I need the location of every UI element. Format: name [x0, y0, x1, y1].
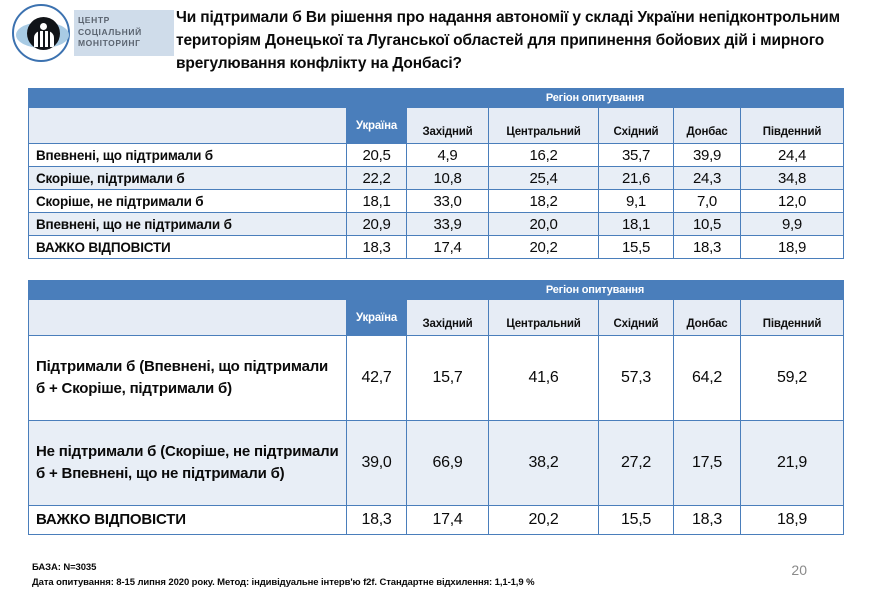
row-label: ВАЖКО ВІДПОВІСТИ: [29, 236, 347, 259]
header-label-cell: [29, 300, 347, 336]
logo-wordmark: ЦЕНТР СОЦІАЛЬНИЙ МОНІТОРИНГ: [74, 10, 174, 56]
row-label: Скоріше, підтримали б: [29, 167, 347, 190]
cell-value: 9,9: [741, 213, 844, 236]
cell-value: 18,1: [347, 190, 407, 213]
cell-value: 16,2: [489, 144, 599, 167]
cell-value: 20,0: [489, 213, 599, 236]
row-label: Скоріше, не підтримали б: [29, 190, 347, 213]
table-column-header-row: Україна Західний Центральний Східний Дон…: [29, 300, 844, 336]
cell-value: 34,8: [741, 167, 844, 190]
page-title: Чи підтримали б Ви рішення про надання а…: [176, 6, 866, 75]
logo-ring-icon: [12, 4, 70, 62]
cell-value: 17,4: [407, 506, 489, 535]
cell-value: 21,9: [741, 421, 844, 506]
cell-value: 66,9: [407, 421, 489, 506]
organization-logo: ЦЕНТР СОЦІАЛЬНИЙ МОНІТОРИНГ: [12, 4, 172, 62]
cell-value: 18,9: [741, 236, 844, 259]
group-header-region: Регіон опитування: [347, 89, 844, 108]
cell-value: 22,2: [347, 167, 407, 190]
header-corner-cell: [29, 89, 347, 108]
logo-line-1: ЦЕНТР: [78, 15, 174, 27]
cell-value: 7,0: [674, 190, 741, 213]
row-label: Впевнені, що підтримали б: [29, 144, 347, 167]
cell-value: 24,3: [674, 167, 741, 190]
column-header-central: Центральний: [489, 108, 599, 144]
cell-value: 21,6: [599, 167, 674, 190]
table-row: Скоріше, підтримали б 22,2 10,8 25,4 21,…: [29, 167, 844, 190]
cell-value: 41,6: [489, 336, 599, 421]
survey-table-detailed: Регіон опитування Україна Західний Центр…: [28, 88, 844, 259]
group-header-region: Регіон опитування: [347, 281, 844, 300]
table-row: ВАЖКО ВІДПОВІСТИ 18,3 17,4 20,2 15,5 18,…: [29, 236, 844, 259]
cell-value: 33,9: [407, 213, 489, 236]
table-row: Не підтримали б (Скоріше, не підтримали …: [29, 421, 844, 506]
cell-value: 18,3: [347, 506, 407, 535]
cell-value: 57,3: [599, 336, 674, 421]
table-row: Підтримали б (Впевнені, що підтримали б …: [29, 336, 844, 421]
cell-value: 24,4: [741, 144, 844, 167]
header-corner-cell: [29, 281, 347, 300]
column-header-ukraine: Україна: [347, 108, 407, 144]
column-header-southern: Південний: [741, 108, 844, 144]
table-row: Скоріше, не підтримали б 18,1 33,0 18,2 …: [29, 190, 844, 213]
header-label-cell: [29, 108, 347, 144]
cell-value: 18,2: [489, 190, 599, 213]
cell-value: 39,9: [674, 144, 741, 167]
column-header-eastern: Східний: [599, 300, 674, 336]
logo-figure-icon: [27, 17, 60, 50]
cell-value: 15,7: [407, 336, 489, 421]
table-row: Впевнені, що не підтримали б 20,9 33,9 2…: [29, 213, 844, 236]
cell-value: 20,2: [489, 506, 599, 535]
table-column-header-row: Україна Західний Центральний Східний Дон…: [29, 108, 844, 144]
row-label: Не підтримали б (Скоріше, не підтримали …: [29, 421, 347, 506]
cell-value: 17,4: [407, 236, 489, 259]
row-label: Впевнені, що не підтримали б: [29, 213, 347, 236]
cell-value: 4,9: [407, 144, 489, 167]
cell-value: 39,0: [347, 421, 407, 506]
cell-value: 35,7: [599, 144, 674, 167]
logo-line-2: СОЦІАЛЬНИЙ: [78, 27, 174, 39]
column-header-southern: Південний: [741, 300, 844, 336]
cell-value: 33,0: [407, 190, 489, 213]
column-header-eastern: Східний: [599, 108, 674, 144]
cell-value: 15,5: [599, 236, 674, 259]
cell-value: 17,5: [674, 421, 741, 506]
cell-value: 10,8: [407, 167, 489, 190]
table-header-band-row: Регіон опитування: [29, 89, 844, 108]
column-header-western: Західний: [407, 300, 489, 336]
column-header-ukraine: Україна: [347, 300, 407, 336]
footnote-method: Дата опитування: 8-15 липня 2020 року. М…: [32, 575, 752, 590]
cell-value: 59,2: [741, 336, 844, 421]
column-header-western: Західний: [407, 108, 489, 144]
survey-table-summary: Регіон опитування Україна Західний Центр…: [28, 280, 844, 535]
row-label: ВАЖКО ВІДПОВІСТИ: [29, 506, 347, 535]
cell-value: 18,9: [741, 506, 844, 535]
cell-value: 27,2: [599, 421, 674, 506]
logo-line-3: МОНІТОРИНГ: [78, 38, 174, 50]
cell-value: 20,9: [347, 213, 407, 236]
cell-value: 20,2: [489, 236, 599, 259]
column-header-central: Центральний: [489, 300, 599, 336]
cell-value: 12,0: [741, 190, 844, 213]
row-label: Підтримали б (Впевнені, що підтримали б …: [29, 336, 347, 421]
footnote: БАЗА: N=3035 Дата опитування: 8-15 липня…: [32, 560, 752, 590]
cell-value: 10,5: [674, 213, 741, 236]
cell-value: 25,4: [489, 167, 599, 190]
cell-value: 38,2: [489, 421, 599, 506]
cell-value: 42,7: [347, 336, 407, 421]
cell-value: 15,5: [599, 506, 674, 535]
table-row: ВАЖКО ВІДПОВІСТИ 18,3 17,4 20,2 15,5 18,…: [29, 506, 844, 535]
page-number: 20: [791, 562, 807, 578]
column-header-donbas: Донбас: [674, 108, 741, 144]
cell-value: 64,2: [674, 336, 741, 421]
table-header-band-row: Регіон опитування: [29, 281, 844, 300]
cell-value: 18,3: [674, 236, 741, 259]
cell-value: 18,3: [674, 506, 741, 535]
column-header-donbas: Донбас: [674, 300, 741, 336]
table-row: Впевнені, що підтримали б 20,5 4,9 16,2 …: [29, 144, 844, 167]
cell-value: 9,1: [599, 190, 674, 213]
cell-value: 18,3: [347, 236, 407, 259]
cell-value: 18,1: [599, 213, 674, 236]
footnote-base: БАЗА: N=3035: [32, 560, 752, 575]
cell-value: 20,5: [347, 144, 407, 167]
